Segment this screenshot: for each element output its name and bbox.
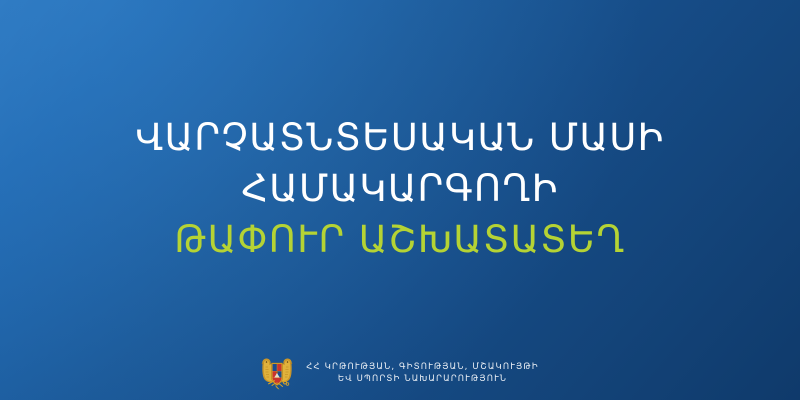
ministry-name-block: ՀՀ ԿՐԹՈՒԹՅԱՆ, ԳԻՏՈՒԹՅԱՆ, ՄՇԱԿՈՒՅԹԻ ԵՎ ՍՊ… (306, 361, 539, 386)
ministry-name-line-1: ՀՀ ԿՐԹՈՒԹՅԱՆ, ԳԻՏՈՒԹՅԱՆ, ՄՇԱԿՈՒՅԹԻ (306, 361, 539, 374)
vacancy-announcement-banner: ՎԱՐՉԱՏՆՏԵՍԱԿԱՆ ՄԱՍԻ ՀԱՄԱԿԱՐԳՈՂԻ ԹԱՓՈՒՐ Ա… (0, 0, 800, 400)
ministry-lockup: ՀՀ ԿՐԹՈՒԹՅԱՆ, ԳԻՏՈՒԹՅԱՆ, ՄՇԱԿՈՒՅԹԻ ԵՎ ՍՊ… (0, 354, 800, 392)
armenia-coat-of-arms-icon (261, 354, 293, 392)
headline-line-1: ՎԱՐՉԱՏՆՏԵՍԱԿԱՆ ՄԱՍԻ (0, 112, 800, 163)
headline-block: ՎԱՐՉԱՏՆՏԵՍԱԿԱՆ ՄԱՍԻ ՀԱՄԱԿԱՐԳՈՂԻ ԹԱՓՈՒՐ Ա… (0, 112, 800, 265)
headline-line-2: ՀԱՄԱԿԱՐԳՈՂԻ (0, 163, 800, 214)
headline-line-3-vacancy: ԹԱՓՈՒՐ ԱՇԽԱՏԱՏԵՂ (0, 214, 800, 265)
ministry-name-line-2: ԵՎ ՍՊՈՐՏԻ ՆԱԽԱՐԱՐՈՒԹՅՈՒՆ (338, 373, 507, 386)
